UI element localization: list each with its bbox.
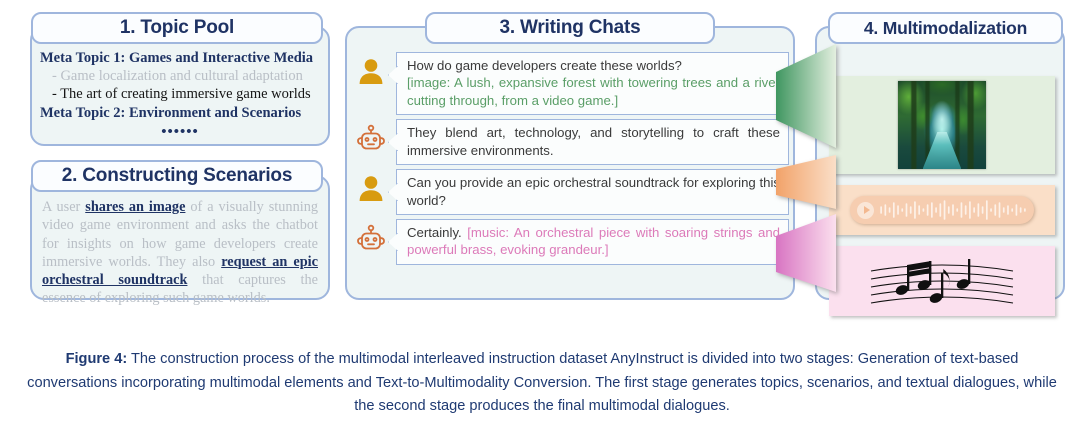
- audio-output-slot: [829, 185, 1055, 235]
- constructing-scenarios-title: 2. Constructing Scenarios: [31, 160, 323, 192]
- chat-text-1: How do game developers create these worl…: [407, 57, 780, 74]
- topic-pool-panel: Meta Topic 1: Games and Interactive Medi…: [30, 26, 330, 146]
- topic-item-1: - Game localization and cultural adaptat…: [52, 68, 320, 85]
- scenario-highlight-1: shares an image: [85, 199, 185, 215]
- chat-text-4: Certainly.: [407, 225, 467, 240]
- forest-thumbnail-image: [898, 81, 986, 169]
- figure-caption: Figure 4: The construction process of th…: [22, 348, 1062, 419]
- music-staff-notes-icon: [867, 253, 1017, 309]
- audio-player[interactable]: [850, 196, 1034, 224]
- chat-message-2: They blend art, technology, and storytel…: [353, 119, 789, 165]
- image-output-slot: [829, 76, 1055, 174]
- chat-bubble-assistant-2: Certainly. [music: An orchestral piece w…: [396, 219, 789, 265]
- figure-caption-label: Figure 4:: [66, 351, 128, 367]
- constructing-scenarios-body: A user shares an image of a visually stu…: [32, 198, 328, 308]
- robot-avatar-icon: [353, 219, 389, 259]
- chat-bubble-assistant-1: They blend art, technology, and storytel…: [396, 119, 789, 165]
- meta-topic-1: Meta Topic 1: Games and Interactive Medi…: [40, 50, 320, 67]
- topic-pool-ellipsis: ••••••: [40, 124, 320, 141]
- figure-caption-text: The construction process of the multimod…: [27, 351, 1057, 414]
- user-avatar-icon: [353, 52, 389, 92]
- chat-bubble-user-2: Can you provide an epic orchestral sound…: [396, 169, 789, 215]
- chat-message-1: How do game developers create these worl…: [353, 52, 789, 115]
- topic-pool-body: Meta Topic 1: Games and Interactive Medi…: [32, 48, 328, 141]
- constructing-scenarios-panel: A user shares an image of a visually stu…: [30, 175, 330, 300]
- chat-text-2: They blend art, technology, and storytel…: [407, 124, 780, 159]
- multimodalization-panel: [815, 26, 1065, 300]
- writing-chats-panel: How do game developers create these worl…: [345, 26, 795, 300]
- music-output-slot: [829, 246, 1055, 316]
- waveform-icon: [879, 200, 1027, 220]
- chat-text-3: Can you provide an epic orchestral sound…: [407, 174, 780, 209]
- chat-message-4: Certainly. [music: An orchestral piece w…: [353, 219, 789, 265]
- topic-item-2: - The art of creating immersive game wor…: [52, 86, 320, 103]
- topic-pool-title: 1. Topic Pool: [31, 12, 323, 44]
- chat-message-3: Can you provide an epic orchestral sound…: [353, 169, 789, 215]
- robot-avatar-icon: [353, 119, 389, 159]
- music-flow-wedge-icon: [776, 214, 836, 292]
- chat-image-tag-1: [image: A lush, expansive forest with to…: [407, 74, 780, 109]
- user-avatar-icon: [353, 169, 389, 209]
- meta-topic-2: Meta Topic 2: Environment and Scenarios: [40, 105, 320, 122]
- chat-bubble-user-1: How do game developers create these worl…: [396, 52, 789, 115]
- audio-flow-wedge-icon: [776, 155, 836, 209]
- image-flow-wedge-icon: [776, 44, 836, 148]
- chat-message-list: How do game developers create these worl…: [347, 52, 793, 269]
- play-icon[interactable]: [857, 202, 874, 219]
- writing-chats-title: 3. Writing Chats: [425, 12, 715, 44]
- multimodalization-title: 4. Multimodalization: [828, 12, 1063, 44]
- scenario-text-1: A user: [42, 199, 85, 215]
